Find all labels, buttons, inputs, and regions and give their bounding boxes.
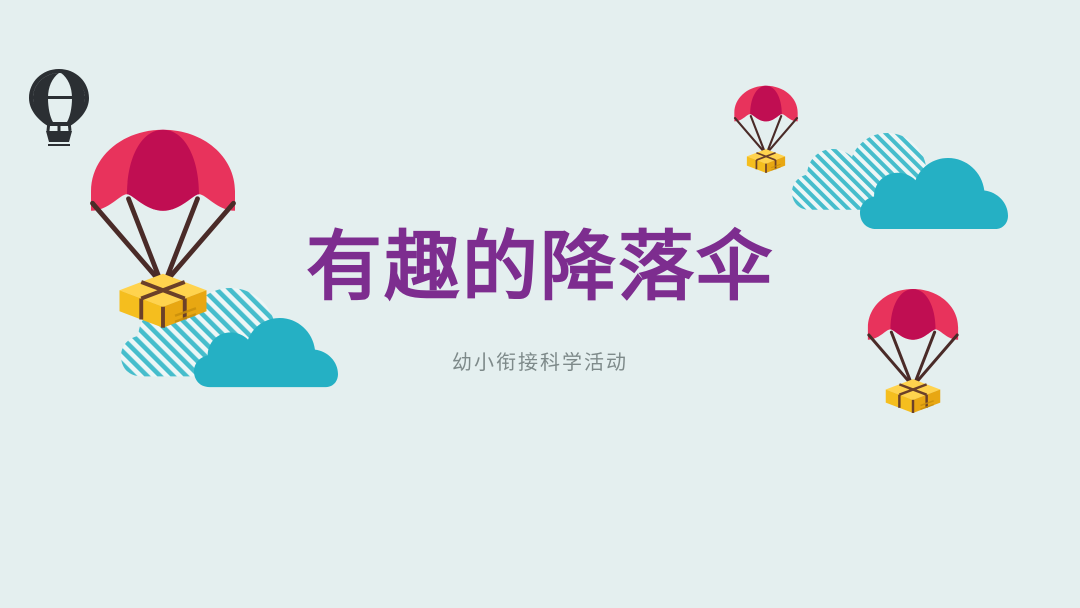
slide-canvas: 有趣的降落伞 幼小衔接科学活动 [0, 0, 1080, 608]
page-subtitle: 幼小衔接科学活动 [0, 306, 1080, 374]
parachute-small-top-right [734, 86, 797, 173]
cloud-striped-right [792, 133, 952, 210]
title-block: 有趣的降落伞 幼小衔接科学活动 [0, 228, 1080, 374]
cloud-solid-right [860, 158, 1008, 229]
page-title: 有趣的降落伞 [0, 228, 1080, 306]
hot-air-balloon-icon [29, 69, 89, 146]
